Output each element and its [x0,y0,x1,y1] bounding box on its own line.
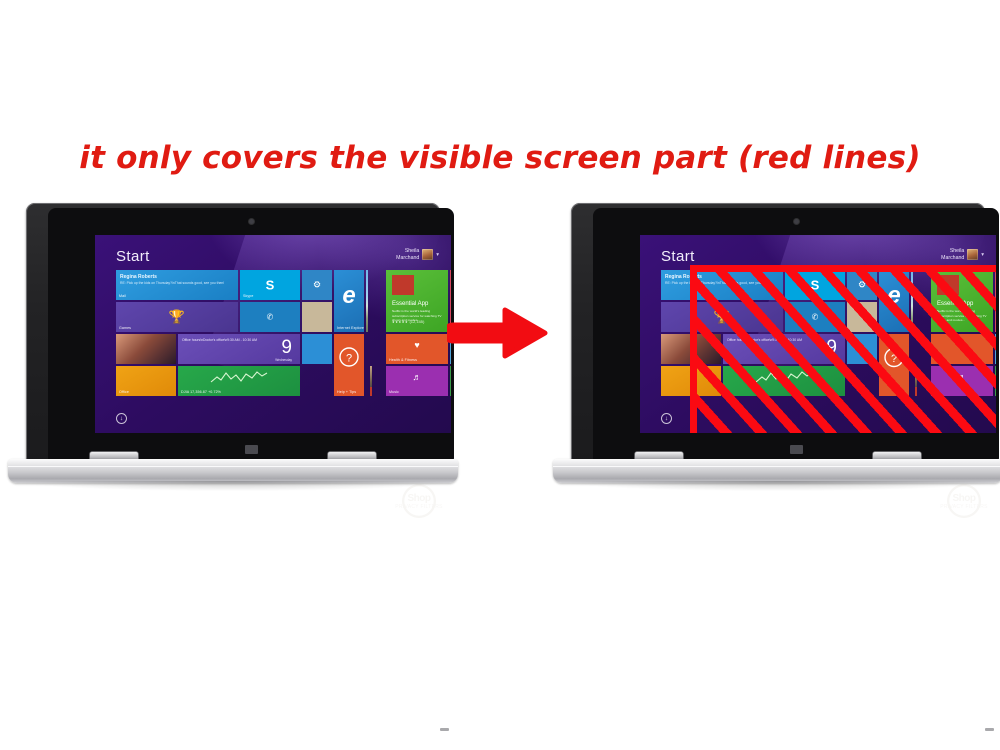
screen-bezel: Start Sheila Marchand ▾ Regina Roberts [593,208,999,460]
tile-settings[interactable]: ⚙ [302,270,332,300]
watermark-line2: PRIVACY FILTERS [386,504,452,510]
page-title: it only covers the visible screen part (… [0,140,1000,176]
all-apps-button[interactable]: ↓ [116,413,127,424]
tile-people[interactable] [116,334,176,364]
tile-label: Music [389,390,399,394]
user-last-name: Marchand [941,255,964,262]
watermark-line1: Shop [386,493,452,504]
start-label: Start [661,248,695,265]
laptop-screen: Start Sheila Marchand ▾ Regin [95,235,451,433]
laptop-base [8,459,458,483]
tile-area: Regina Roberts RE: Pick up the kids on T… [116,270,451,396]
tile-group-right: Essential App Netflix is the world's lea… [386,270,451,396]
user-name: Sheila Marchand [396,248,419,261]
stars: ★★★★★ [392,320,408,324]
heart-icon: ♥ [414,340,419,350]
tile-calendar[interactable]: Office hours\nDoctor's office\n9:30 AM -… [178,334,300,364]
watermark-line2: PRIVACY FILTERS [931,504,997,510]
user-account[interactable]: Sheila Marchand ▾ [941,248,984,261]
tile-label: DJIA 17,356.87 +0.72% [181,390,221,394]
netflix-logo-icon [392,275,414,295]
laptop-base [553,459,1000,483]
laptop-screen: Start Sheila Marchand ▾ Regina Roberts [640,235,996,433]
laptop-lid: Start Sheila Marchand ▾ Regina Roberts [571,203,985,461]
all-apps-button[interactable]: ↓ [661,413,672,424]
calendar-day: 9 [281,338,292,357]
tile-help-tips[interactable]: ? Help + Tips [334,334,364,396]
watermark: Shop PRIVACY FILTERS [386,482,452,520]
trophy-icon: 🏆 [169,309,185,325]
app-name: Essential App [392,301,428,307]
tile-weather[interactable]: 68° Los Angeles Sunny Today\n74° / 58° M… [366,270,368,332]
tile-internet-explorer[interactable]: e Internet Explorer [334,270,364,332]
start-label: Start [116,248,150,265]
user-last-name: Marchand [396,255,419,262]
avatar[interactable] [422,249,433,260]
screen-bezel: Start Sheila Marchand ▾ Regin [48,208,454,460]
tile-label: Games [119,326,131,330]
tile-label: Internet Explorer [337,326,364,330]
skype-icon: S [266,278,275,293]
watermark: Shop PRIVACY FILTERS [931,482,997,520]
chevron-down-icon[interactable]: ▾ [436,252,439,258]
music-note-icon: ♬ [413,372,422,382]
chevron-down-icon[interactable]: ▾ [981,252,984,258]
mail-preview: RE: Pick up the kids on Thursday?\nThat … [120,281,234,286]
windows-button[interactable] [790,445,803,454]
tile-skype[interactable]: S Skype [240,270,300,300]
right-arrow-icon [447,300,553,366]
tile-phone[interactable]: ✆ [240,302,300,332]
svg-text:?: ? [346,353,352,365]
webcam-icon [249,219,254,224]
app-rating: ★★★★★ (12,345) [392,320,425,324]
tile-health-fitness[interactable]: ♥ Health & Fitness [386,334,448,364]
user-name: Sheila Marchand [941,248,964,261]
laptop-before: Start Sheila Marchand ▾ Regin [8,198,458,528]
calendar-weekday: Wednesday [275,358,292,362]
help-icon: ? [338,346,360,374]
tile-mail[interactable]: Regina Roberts RE: Pick up the kids on T… [116,270,238,300]
phone-icon: ✆ [267,313,274,322]
port-indicator [985,728,994,731]
tile-music-purple[interactable]: ♬ Music [386,366,448,396]
mail-sender: Regina Roberts [120,274,157,280]
stock-chart-icon [210,370,268,386]
question-circle-icon: ? [338,346,360,368]
tile-finance[interactable]: DJIA 17,356.87 +0.72% [178,366,300,396]
port-indicator [440,728,449,731]
rating-count: (12,345) [410,320,425,324]
tile-label: Health & Fitness [389,358,417,362]
screenshot-stage: it only covers the visible screen part (… [0,0,1000,750]
watermark-line1: Shop [931,493,997,504]
news-caption-bar: Scientists discover new species of deep-… [370,387,372,396]
tile-reader[interactable] [302,302,332,332]
tile-label: Mail [119,294,126,298]
red-hatch-overlay [690,265,996,433]
tile-office[interactable]: Office [116,366,176,396]
tile-games[interactable]: 🏆 Games [116,302,238,332]
tile-label: Help + Tips [337,390,356,394]
windows-button[interactable] [245,445,258,454]
laptop-after: Start Sheila Marchand ▾ Regina Roberts [553,198,1000,528]
tile-news[interactable]: Scientists discover new species of deep-… [370,366,372,396]
gear-icon: ⚙ [313,280,321,291]
tile-group-left: Regina Roberts RE: Pick up the kids on T… [116,270,372,396]
tile-store[interactable] [302,334,332,364]
user-account[interactable]: Sheila Marchand ▾ [396,248,439,261]
tile-label: Office [119,390,129,394]
laptop-lid: Start Sheila Marchand ▾ Regin [26,203,440,461]
tile-label: Skype [243,294,254,298]
laptop-shadow [16,481,450,491]
internet-explorer-icon: e [342,282,355,310]
webcam-icon [794,219,799,224]
laptop-shadow [561,481,995,491]
tile-excel[interactable] [450,366,451,396]
avatar[interactable] [967,249,978,260]
tile-netflix-essential-app[interactable]: Essential App Netflix is the world's lea… [386,270,448,332]
calendar-event: Office hours\nDoctor's office\n9:30 AM -… [182,338,272,343]
